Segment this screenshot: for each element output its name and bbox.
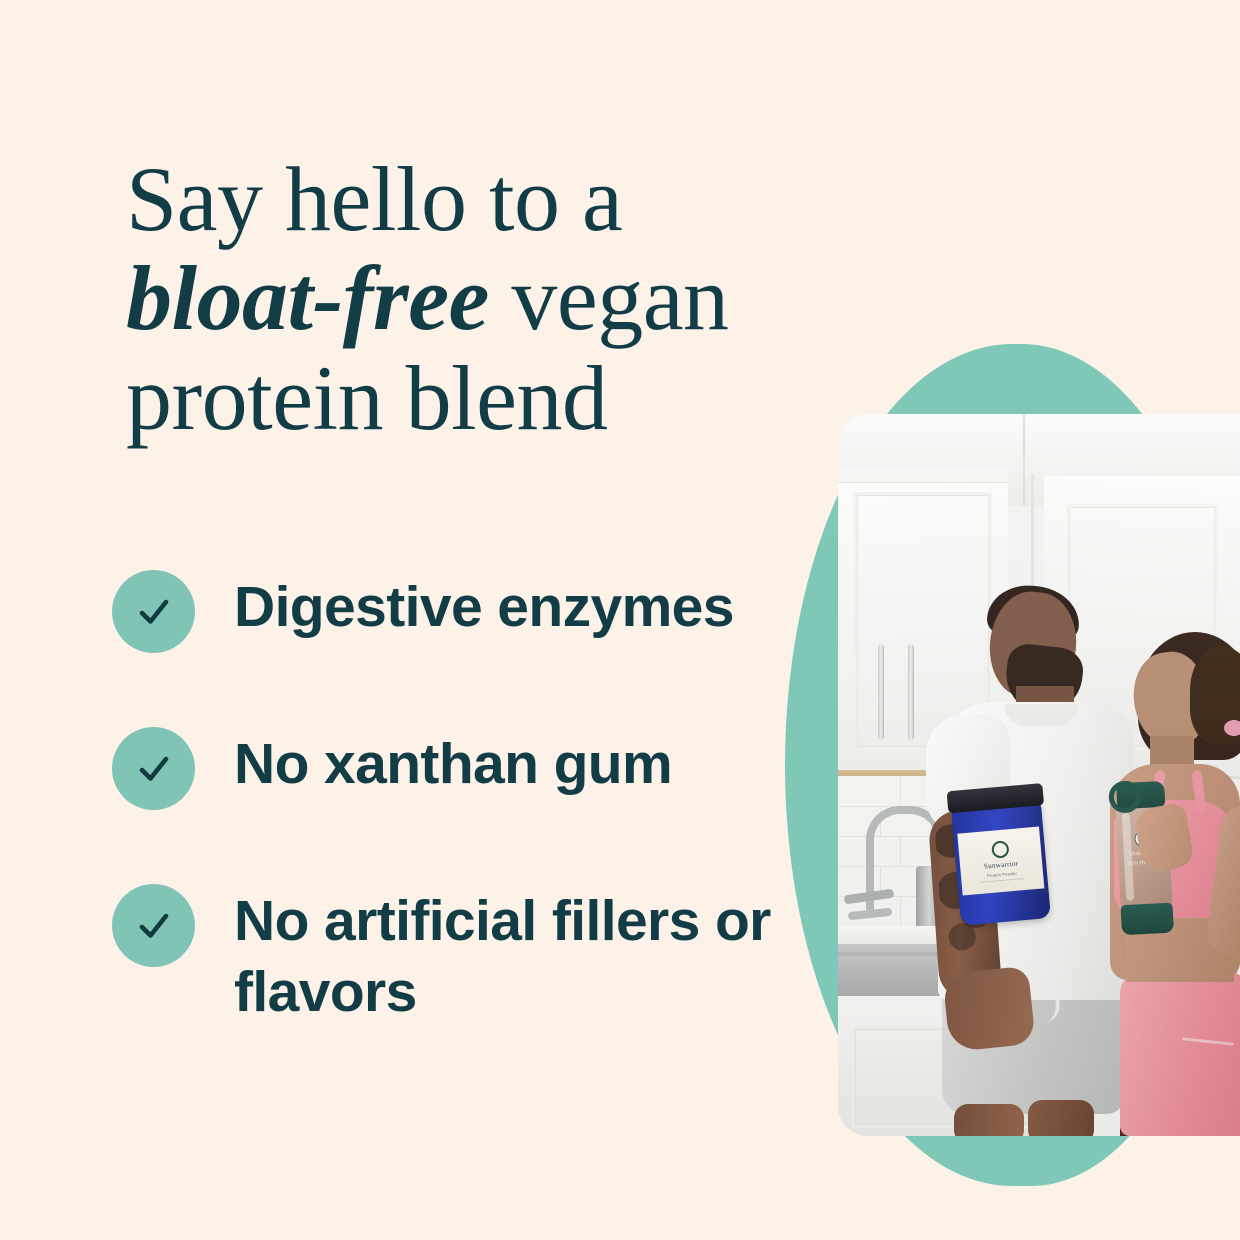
man-hand [942,966,1036,1053]
headline-line-3: protein blend [126,349,856,448]
jar-product-name: Protein Powder [987,871,1017,879]
woman-leggings [1120,970,1240,1136]
cabinet-handle [908,644,914,740]
man-leg-right [1028,1100,1094,1136]
benefit-item-digestive-enzymes: Digestive enzymes [112,566,812,653]
man-leg-left [954,1104,1024,1136]
leggings-seam [1182,1037,1234,1045]
headline-line-2-rest: vegan [489,247,729,349]
check-icon [112,884,195,967]
product-jar: Sunwarrior Protein Powder [951,800,1051,925]
headline-line-2: bloat-free vegan [126,249,856,348]
cabinet-handle [878,644,884,740]
benefit-label: No artificial fillers or flavors [234,880,774,1027]
benefits-list: Digestive enzymes No xanthan gum No arti… [112,566,812,1027]
headline-emphasis: bloat-free [126,247,489,349]
promo-canvas: Say hello to a bloat-free vegan protein … [0,0,1240,1240]
lifestyle-photo: Sunwarrior Protein Powder [838,414,1240,1136]
headline-line-1: Say hello to a [126,150,856,249]
benefit-item-no-artificial-fillers: No artificial fillers or flavors [112,880,812,1027]
check-icon [112,727,195,810]
bottle-base [1120,903,1173,936]
woman-scrunchie [1224,720,1240,736]
benefit-label: No xanthan gum [234,723,672,800]
jar-label: Sunwarrior Protein Powder [957,827,1044,896]
jar-brand-name: Sunwarrior [984,860,1019,871]
photo-scene: Sunwarrior Protein Powder [838,414,1240,1136]
man-tshirt-collar [1004,704,1078,726]
benefit-item-no-xanthan-gum: No xanthan gum [112,723,812,810]
benefit-label: Digestive enzymes [234,566,734,643]
check-icon [112,570,195,653]
page-title: Say hello to a bloat-free vegan protein … [126,150,856,448]
brand-logo-icon [991,840,1009,858]
jar-label-divider [981,878,1025,883]
